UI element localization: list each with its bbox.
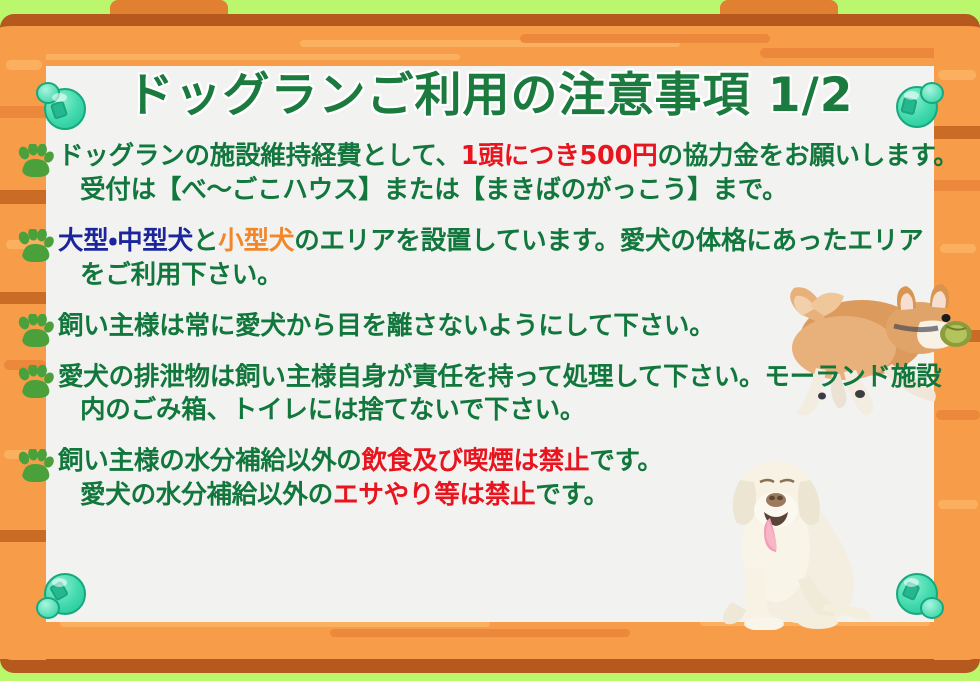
rule-highlight-red: 飲食及び喫煙は禁止 <box>362 446 590 476</box>
rule-text: 愛犬の排泄物は飼い主様自身が責任を持って処理して下さい。モーランド施設 <box>58 362 941 392</box>
rule-highlight-red: 1頭につき500円 <box>461 141 658 171</box>
rule-item-1: ドッグランの施設維持経費として、1頭につき500円の協力金をお願いします。 受付… <box>14 140 966 208</box>
rule-text: 受付は【べ〜ごこハウス】または【まきばのがっこう】まで。 <box>80 175 787 205</box>
paw-print-icon <box>16 365 54 398</box>
rule-item-5: 飼い主様の水分補給以外の飲食及び喫煙は禁止です。 愛犬の水分補給以外のエサやり等… <box>14 445 966 513</box>
rule-3-line-1: 飼い主様は常に愛犬から目を離さないようにして下さい。 <box>58 310 966 344</box>
pushpin-bottom-right-icon <box>888 567 944 619</box>
rule-text: と <box>193 226 218 256</box>
rule-text: の協力金をお願いします。 <box>657 141 958 171</box>
rule-4-line-1: 愛犬の排泄物は飼い主様自身が責任を持って処理して下さい。モーランド施設 <box>58 361 966 395</box>
paw-print-icon <box>16 314 54 347</box>
rule-text: 内のごみ箱、トイレには捨てないで下さい。 <box>80 395 585 425</box>
rule-highlight-red: エサやり等は禁止 <box>333 480 535 510</box>
rule-text: 飼い主様は常に愛犬から目を離さないようにして下さい。 <box>58 311 715 341</box>
rule-text: 飼い主様の水分補給以外の <box>58 446 362 476</box>
rule-text: 愛犬の水分補給以外の <box>80 480 333 510</box>
rule-4-line-2: 内のごみ箱、トイレには捨てないで下さい。 <box>58 394 966 428</box>
rule-highlight-orange: 小型犬 <box>218 226 294 256</box>
rule-text: のエリアを設置しています。愛犬の体格にあったエリア <box>294 226 923 256</box>
rule-1-line-1: ドッグランの施設維持経費として、1頭につき500円の協力金をお願いします。 <box>58 140 966 174</box>
rule-1-line-2: 受付は【べ〜ごこハウス】または【まきばのがっこう】まで。 <box>58 174 966 208</box>
pushpin-top-right-icon <box>888 80 944 132</box>
rule-2-line-1: 大型・中型犬と小型犬のエリアを設置しています。愛犬の体格にあったエリア <box>58 225 966 259</box>
rules-list: ドッグランの施設維持経費として、1頭につき500円の協力金をお願いします。 受付… <box>14 140 966 530</box>
rule-text: です。 <box>535 480 608 510</box>
rule-5-line-1: 飼い主様の水分補給以外の飲食及び喫煙は禁止です。 <box>58 445 966 479</box>
pushpin-top-left-icon <box>36 82 92 134</box>
page-title: ドッグランご利用の注意事項 1/2 <box>46 56 934 125</box>
rule-text: をご利用下さい。 <box>80 260 282 290</box>
dog-run-notice-poster: ドッグランご利用の注意事項 1/2 ドッグランの施設維持経費として、1頭につき5… <box>0 0 980 681</box>
rule-highlight-blue: 大型・中型犬 <box>58 226 193 256</box>
rule-text: です。 <box>589 446 662 476</box>
rule-2-line-2: をご利用下さい。 <box>58 259 966 293</box>
rule-item-3: 飼い主様は常に愛犬から目を離さないようにして下さい。 <box>14 310 966 344</box>
paw-print-icon <box>16 144 54 177</box>
paw-print-icon <box>16 229 54 262</box>
rule-5-line-2: 愛犬の水分補給以外のエサやり等は禁止です。 <box>58 479 966 513</box>
rule-item-4: 愛犬の排泄物は飼い主様自身が責任を持って処理して下さい。モーランド施設 内のごみ… <box>14 361 966 429</box>
rule-item-2: 大型・中型犬と小型犬のエリアを設置しています。愛犬の体格にあったエリア をご利用… <box>14 225 966 293</box>
pushpin-bottom-left-icon <box>36 567 92 619</box>
rule-text: ドッグランの施設維持経費として、 <box>58 141 461 171</box>
paw-print-icon <box>16 449 54 482</box>
